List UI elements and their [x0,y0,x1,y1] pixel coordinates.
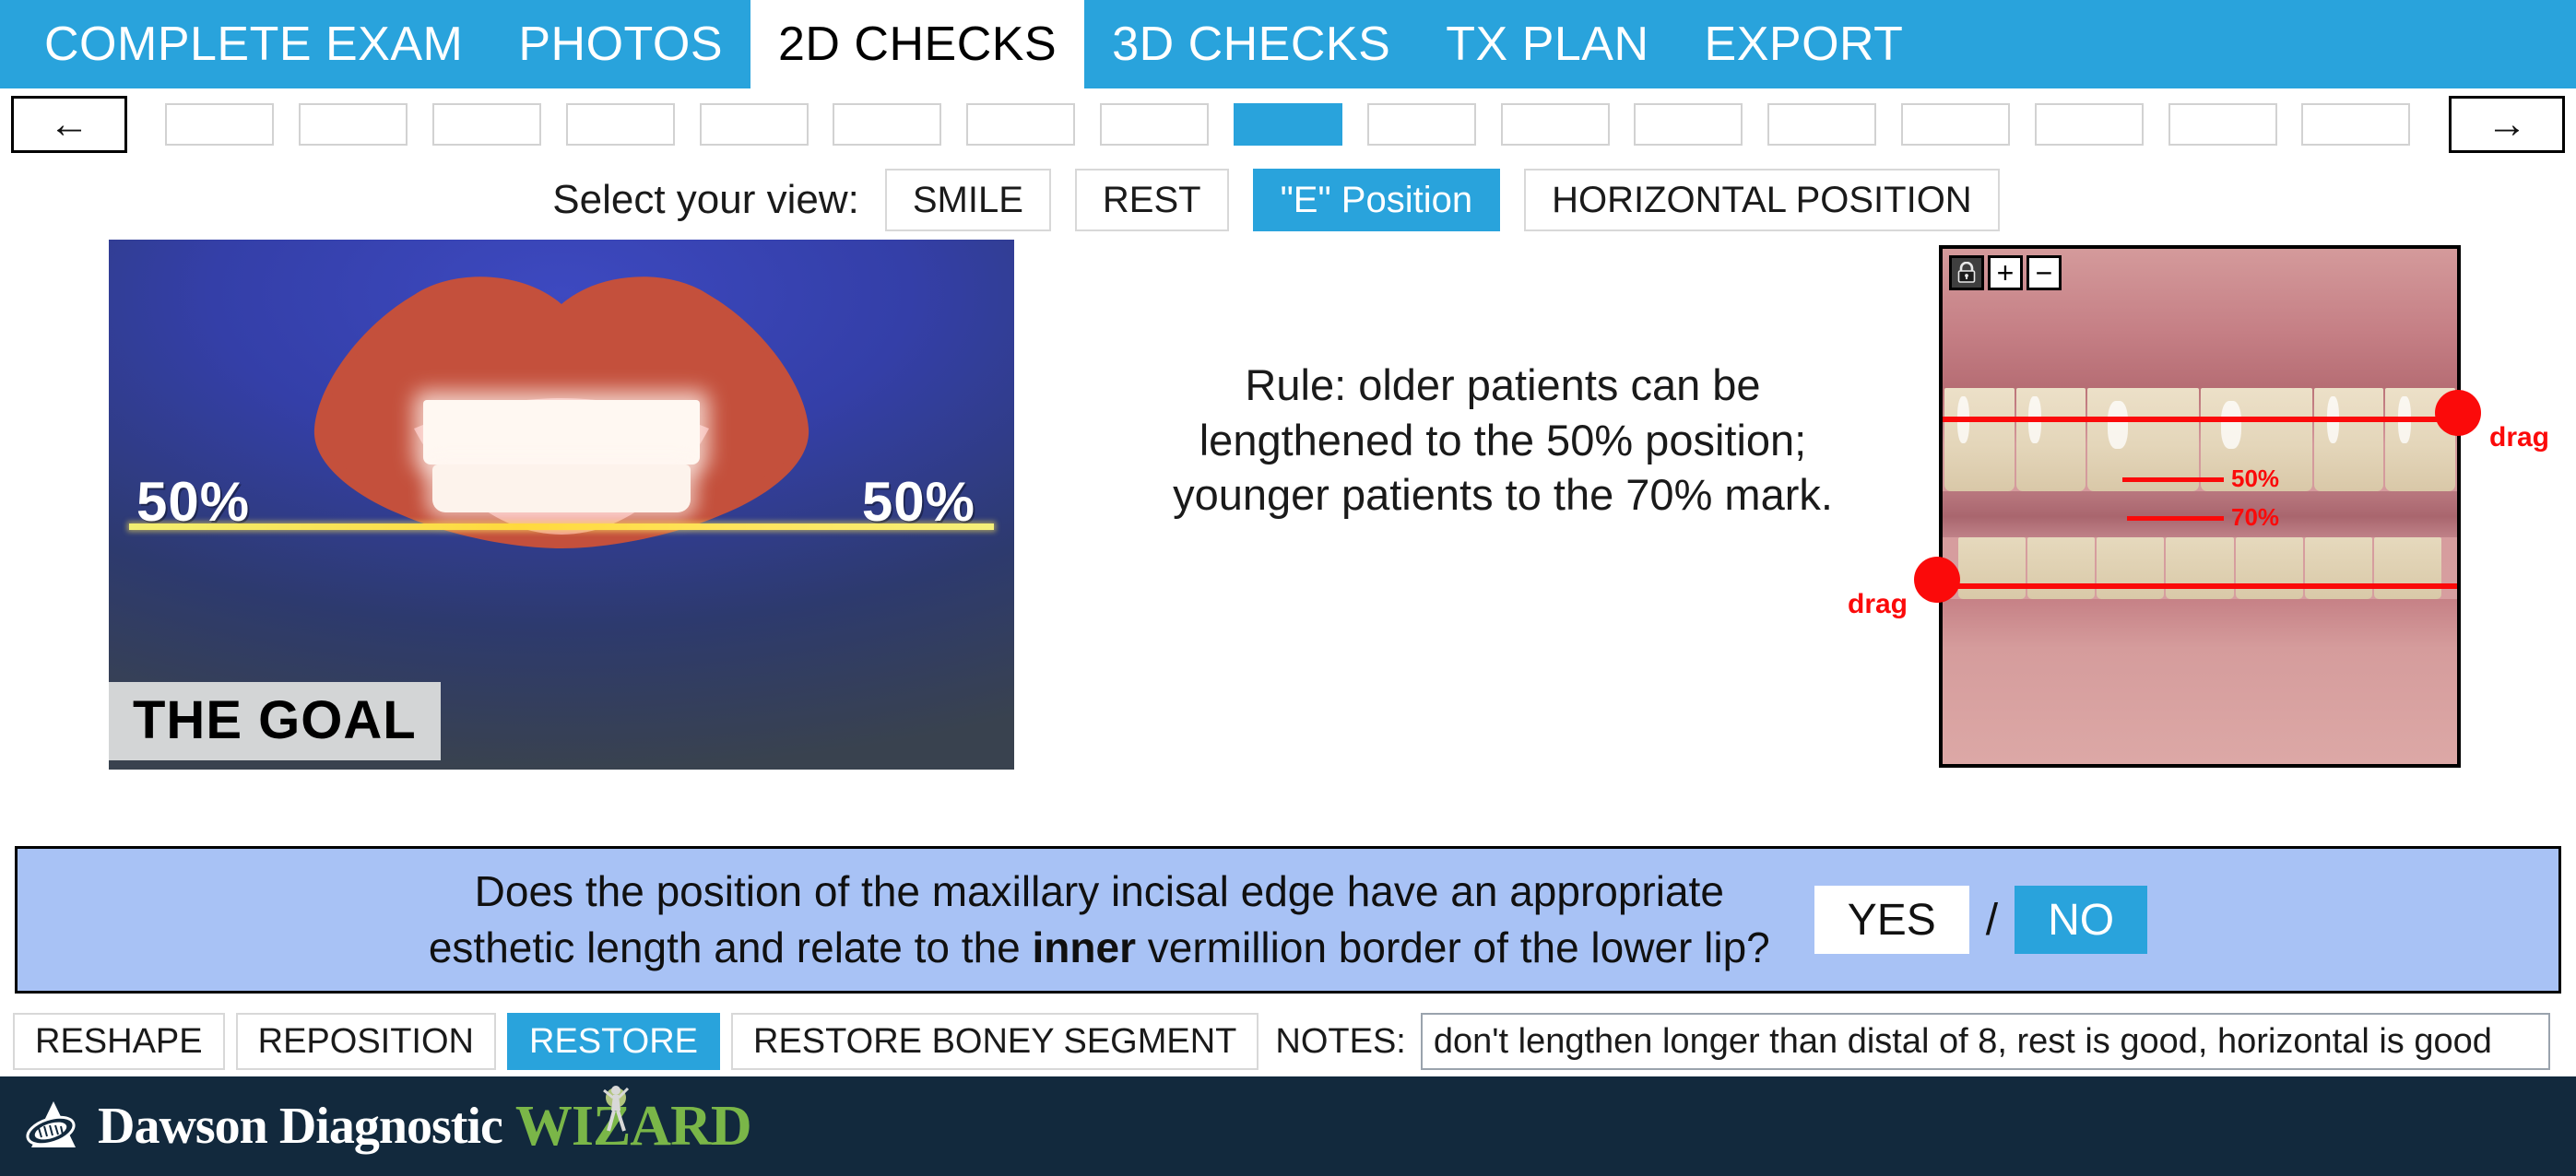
main-content-area: 50% 50% THE GOAL Rule: older patients ca… [0,240,2576,793]
brand-name-secondary: WIZARD [515,1094,751,1159]
yes-no-group: YES / NO [1814,886,2147,954]
percent-50-label: 50% [2231,466,2279,490]
view-button-smile[interactable]: SMILE [885,169,1051,231]
tooth [1944,388,2015,491]
view-button-horizontal-position[interactable]: HORIZONTAL POSITION [1524,169,2000,231]
tooth [2305,537,2372,599]
rule-line-1: Rule: older patients can be [1097,358,1908,413]
tab-3d-checks[interactable]: 3D CHECKS [1084,0,1418,88]
lock-glyph-icon [1956,262,1977,284]
percent-50-tick [2122,477,2224,482]
step-progress-bar: ← → [0,88,2576,160]
lips-illustration [303,267,820,636]
drag-label-top: drag [2489,424,2549,452]
upper-teeth-illustration [423,400,700,465]
goal-percent-right: 50% [862,470,975,534]
tab-photos[interactable]: PHOTOS [490,0,750,88]
reshape-button[interactable]: RESHAPE [13,1013,225,1070]
step-indicator-11[interactable] [1501,103,1610,146]
tooth [1958,537,2026,599]
step-indicator-17[interactable] [2301,103,2410,146]
step-indicator-5[interactable] [700,103,809,146]
drag-label-bottom: drag [1848,591,1908,618]
tab-export[interactable]: EXPORT [1677,0,1932,88]
step-indicator-2[interactable] [299,103,408,146]
brand-wizard-text: WIZARD [515,1095,751,1158]
goal-percent-left: 50% [136,470,250,534]
rule-line-3: younger patients to the 70% mark. [1097,467,1908,523]
dawson-mark-glyph-icon [20,1098,87,1155]
step-indicator-9[interactable] [1234,103,1342,146]
notes-input[interactable] [1421,1013,2550,1070]
view-selector-row: Select your view: SMILE REST "E" Positio… [0,160,2576,240]
tooth [2016,388,2086,491]
view-selector-label: Select your view: [552,177,859,223]
answer-no-button[interactable]: NO [2015,886,2147,954]
lower-teeth-row [1943,537,2457,599]
interocclusal-gap [1943,491,2457,537]
step-indicator-3[interactable] [432,103,541,146]
goal-badge-label: THE GOAL [109,682,441,760]
restore-boney-segment-button[interactable]: RESTORE BONEY SEGMENT [731,1013,1258,1070]
zoom-in-button[interactable]: + [1988,255,2023,290]
view-button-rest[interactable]: REST [1075,169,1229,231]
tooth [2166,537,2233,599]
tooth [2097,537,2164,599]
tab-tx-plan[interactable]: TX PLAN [1418,0,1676,88]
reposition-button[interactable]: REPOSITION [236,1013,496,1070]
answer-yes-button[interactable]: YES [1814,886,1969,954]
step-indicator-15[interactable] [2035,103,2144,146]
question-emphasis-inner: inner [1033,923,1136,971]
patient-photo-image: 50% 70% [1943,249,2457,764]
lower-teeth-illustration [432,465,691,512]
lower-lip-region [1943,599,2457,764]
goal-reference-panel: 50% 50% THE GOAL [109,240,1014,770]
previous-step-button[interactable]: ← [11,96,127,153]
percent-70-label: 70% [2231,505,2279,529]
tooth [2027,537,2095,599]
restore-button[interactable]: RESTORE [507,1013,720,1070]
tooth [2314,388,2384,491]
step-indicator-12[interactable] [1634,103,1743,146]
step-indicator-1[interactable] [165,103,274,146]
question-line-1: Does the position of the maxillary incis… [429,864,1770,920]
patient-photo-panel[interactable]: 50% 70% + − [1939,245,2461,768]
brand-name-primary: Dawson Diagnostic [98,1097,502,1156]
step-indicator-13[interactable] [1767,103,1876,146]
tab-complete-exam[interactable]: COMPLETE EXAM [17,0,490,88]
tooth-highlight [2108,401,2128,448]
question-line-2-prefix: esthetic length and relate to the [429,923,1033,971]
dawson-logo-icon [20,1098,87,1155]
tooth [2236,537,2303,599]
rule-text-block: Rule: older patients can be lengthened t… [1097,358,1908,523]
question-line-2: esthetic length and relate to the inner … [429,920,1770,976]
tab-2d-checks[interactable]: 2D CHECKS [750,0,1084,88]
view-button-e-position[interactable]: "E" Position [1253,169,1501,231]
rule-line-2: lengthened to the 50% position; [1097,413,1908,468]
drag-handle-bottom[interactable] [1914,557,1960,603]
upper-measurement-line [1943,417,2457,422]
notes-label: NOTES: [1275,1022,1405,1062]
question-line-2-suffix: vermillion border of the lower lip? [1136,923,1770,971]
step-indicator-6[interactable] [833,103,941,146]
step-indicator-list [127,88,2449,160]
question-banner: Does the position of the maxillary incis… [15,846,2561,994]
step-indicator-4[interactable] [566,103,675,146]
step-indicator-16[interactable] [2168,103,2277,146]
step-indicator-10[interactable] [1367,103,1476,146]
lock-icon[interactable] [1949,255,1984,290]
step-indicator-7[interactable] [966,103,1075,146]
next-step-button[interactable]: → [2449,96,2565,153]
answer-separator: / [1986,895,1998,946]
tooth [2087,388,2199,491]
tooth-highlight [2221,401,2241,448]
percent-70-tick [2127,516,2224,521]
tooth [2374,537,2441,599]
goal-illustration: 50% 50% THE GOAL [109,240,1014,770]
footer-bar: Dawson Diagnostic WIZARD [0,1076,2576,1176]
zoom-out-button[interactable]: − [2027,255,2062,290]
step-indicator-8[interactable] [1100,103,1209,146]
photo-tool-group: + − [1949,255,2062,290]
wizard-figure-icon [600,1079,632,1138]
question-text: Does the position of the maxillary incis… [429,864,1770,975]
top-navigation-bar: COMPLETE EXAM PHOTOS 2D CHECKS 3D CHECKS… [0,0,2576,88]
step-indicator-14[interactable] [1901,103,2010,146]
drag-handle-top[interactable] [2435,390,2481,436]
lower-measurement-line [1943,583,2457,589]
bottom-toolbar: RESHAPE REPOSITION RESTORE RESTORE BONEY… [0,1006,2576,1076]
upper-teeth-row [1943,388,2457,491]
